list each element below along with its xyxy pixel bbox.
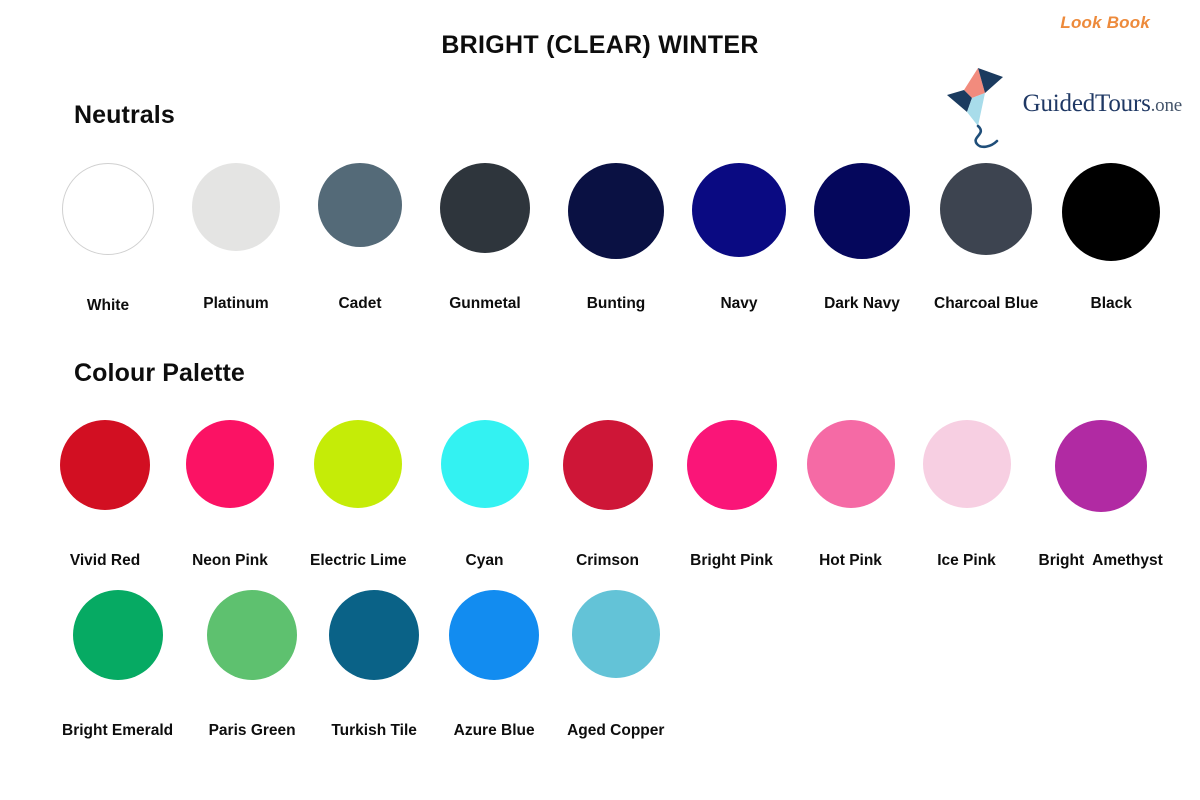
brand-lockup: GuidedTours.one — [931, 58, 1182, 150]
swatch-label: Aged Copper — [567, 722, 664, 739]
swatch-colour-dot[interactable] — [807, 420, 895, 508]
swatch-cell[interactable]: Cyan — [441, 420, 529, 569]
swatch-label: Bright Emerald — [62, 722, 173, 739]
colour-palette-swatch-row-1: Vivid RedNeon PinkElectric LimeCyanCrims… — [60, 420, 1163, 569]
brand-wordmark: GuidedTours.one — [1023, 90, 1182, 118]
swatch-label: Cadet — [338, 295, 381, 312]
swatch-colour-dot[interactable] — [923, 420, 1011, 508]
swatch-cell[interactable]: Bright Emerald — [62, 590, 173, 739]
swatch-cell[interactable]: Cadet — [318, 163, 402, 312]
brand-name: GuidedTours — [1023, 90, 1151, 117]
swatch-colour-dot[interactable] — [207, 590, 297, 680]
swatch-label: Bright Amethyst — [1039, 552, 1163, 569]
swatch-label: Gunmetal — [449, 295, 520, 312]
swatch-cell[interactable]: Azure Blue — [449, 590, 539, 739]
swatch-label: Turkish Tile — [331, 722, 417, 739]
swatch-cell[interactable]: Paris Green — [207, 590, 297, 739]
swatch-label: Paris Green — [209, 722, 296, 739]
section-heading-colour-palette: Colour Palette — [74, 359, 245, 388]
swatch-label: Dark Navy — [824, 295, 900, 312]
swatch-cell[interactable]: Vivid Red — [60, 420, 150, 569]
swatch-label: Black — [1091, 295, 1132, 312]
swatch-colour-dot[interactable] — [940, 163, 1032, 255]
swatch-cell[interactable]: Aged Copper — [567, 590, 664, 739]
swatch-colour-dot[interactable] — [692, 163, 786, 257]
swatch-label: Ice Pink — [937, 552, 996, 569]
swatch-cell[interactable]: Electric Lime — [310, 420, 407, 569]
swatch-cell[interactable]: White — [62, 163, 154, 314]
swatch-colour-dot[interactable] — [563, 420, 653, 510]
swatch-colour-dot[interactable] — [572, 590, 660, 678]
swatch-cell[interactable]: Crimson — [563, 420, 653, 569]
neutrals-swatch-row: WhitePlatinumCadetGunmetalBuntingNavyDar… — [62, 163, 1160, 314]
swatch-colour-dot[interactable] — [60, 420, 150, 510]
swatch-label: Charcoal Blue — [934, 295, 1038, 312]
swatch-cell[interactable]: Bunting — [568, 163, 664, 312]
swatch-label: Platinum — [203, 295, 268, 312]
swatch-colour-dot[interactable] — [314, 420, 402, 508]
swatch-label: Vivid Red — [70, 552, 140, 569]
swatch-colour-dot[interactable] — [440, 163, 530, 253]
section-heading-neutrals: Neutrals — [74, 101, 175, 130]
swatch-colour-dot[interactable] — [62, 163, 154, 255]
swatch-cell[interactable]: Turkish Tile — [329, 590, 419, 739]
swatch-colour-dot[interactable] — [318, 163, 402, 247]
swatch-colour-dot[interactable] — [449, 590, 539, 680]
swatch-label: White — [87, 297, 129, 314]
swatch-colour-dot[interactable] — [441, 420, 529, 508]
swatch-cell[interactable]: Gunmetal — [440, 163, 530, 312]
swatch-cell[interactable]: Navy — [692, 163, 786, 312]
swatch-cell[interactable]: Hot Pink — [807, 420, 895, 569]
swatch-label: Azure Blue — [454, 722, 535, 739]
colour-palette-swatch-row-2: Bright EmeraldParis GreenTurkish TileAzu… — [62, 590, 664, 739]
swatch-cell[interactable]: Neon Pink — [186, 420, 274, 569]
swatch-cell[interactable]: Black — [1062, 163, 1160, 312]
page-title: BRIGHT (CLEAR) WINTER — [0, 31, 1200, 60]
swatch-label: Electric Lime — [310, 552, 407, 569]
swatch-label: Hot Pink — [819, 552, 882, 569]
swatch-label: Cyan — [466, 552, 504, 569]
brand-tld: .one — [1151, 95, 1182, 116]
swatch-label: Bright Pink — [690, 552, 773, 569]
swatch-colour-dot[interactable] — [329, 590, 419, 680]
swatch-cell[interactable]: Charcoal Blue — [934, 163, 1038, 312]
swatch-label: Navy — [720, 295, 757, 312]
swatch-label: Crimson — [576, 552, 639, 569]
swatch-colour-dot[interactable] — [1062, 163, 1160, 261]
swatch-cell[interactable]: Ice Pink — [923, 420, 1011, 569]
swatch-colour-dot[interactable] — [186, 420, 274, 508]
swatch-cell[interactable]: Platinum — [192, 163, 280, 312]
swatch-colour-dot[interactable] — [73, 590, 163, 680]
swatch-colour-dot[interactable] — [568, 163, 664, 259]
swatch-colour-dot[interactable] — [687, 420, 777, 510]
swatch-label: Neon Pink — [192, 552, 268, 569]
swatch-colour-dot[interactable] — [192, 163, 280, 251]
swatch-cell[interactable]: Bright Amethyst — [1039, 420, 1163, 569]
swatch-colour-dot[interactable] — [1055, 420, 1147, 512]
look-book-label: Look Book — [1060, 13, 1150, 33]
swatch-cell[interactable]: Dark Navy — [814, 163, 910, 312]
kite-icon — [931, 58, 1019, 150]
swatch-label: Bunting — [587, 295, 646, 312]
swatch-colour-dot[interactable] — [814, 163, 910, 259]
swatch-cell[interactable]: Bright Pink — [687, 420, 777, 569]
